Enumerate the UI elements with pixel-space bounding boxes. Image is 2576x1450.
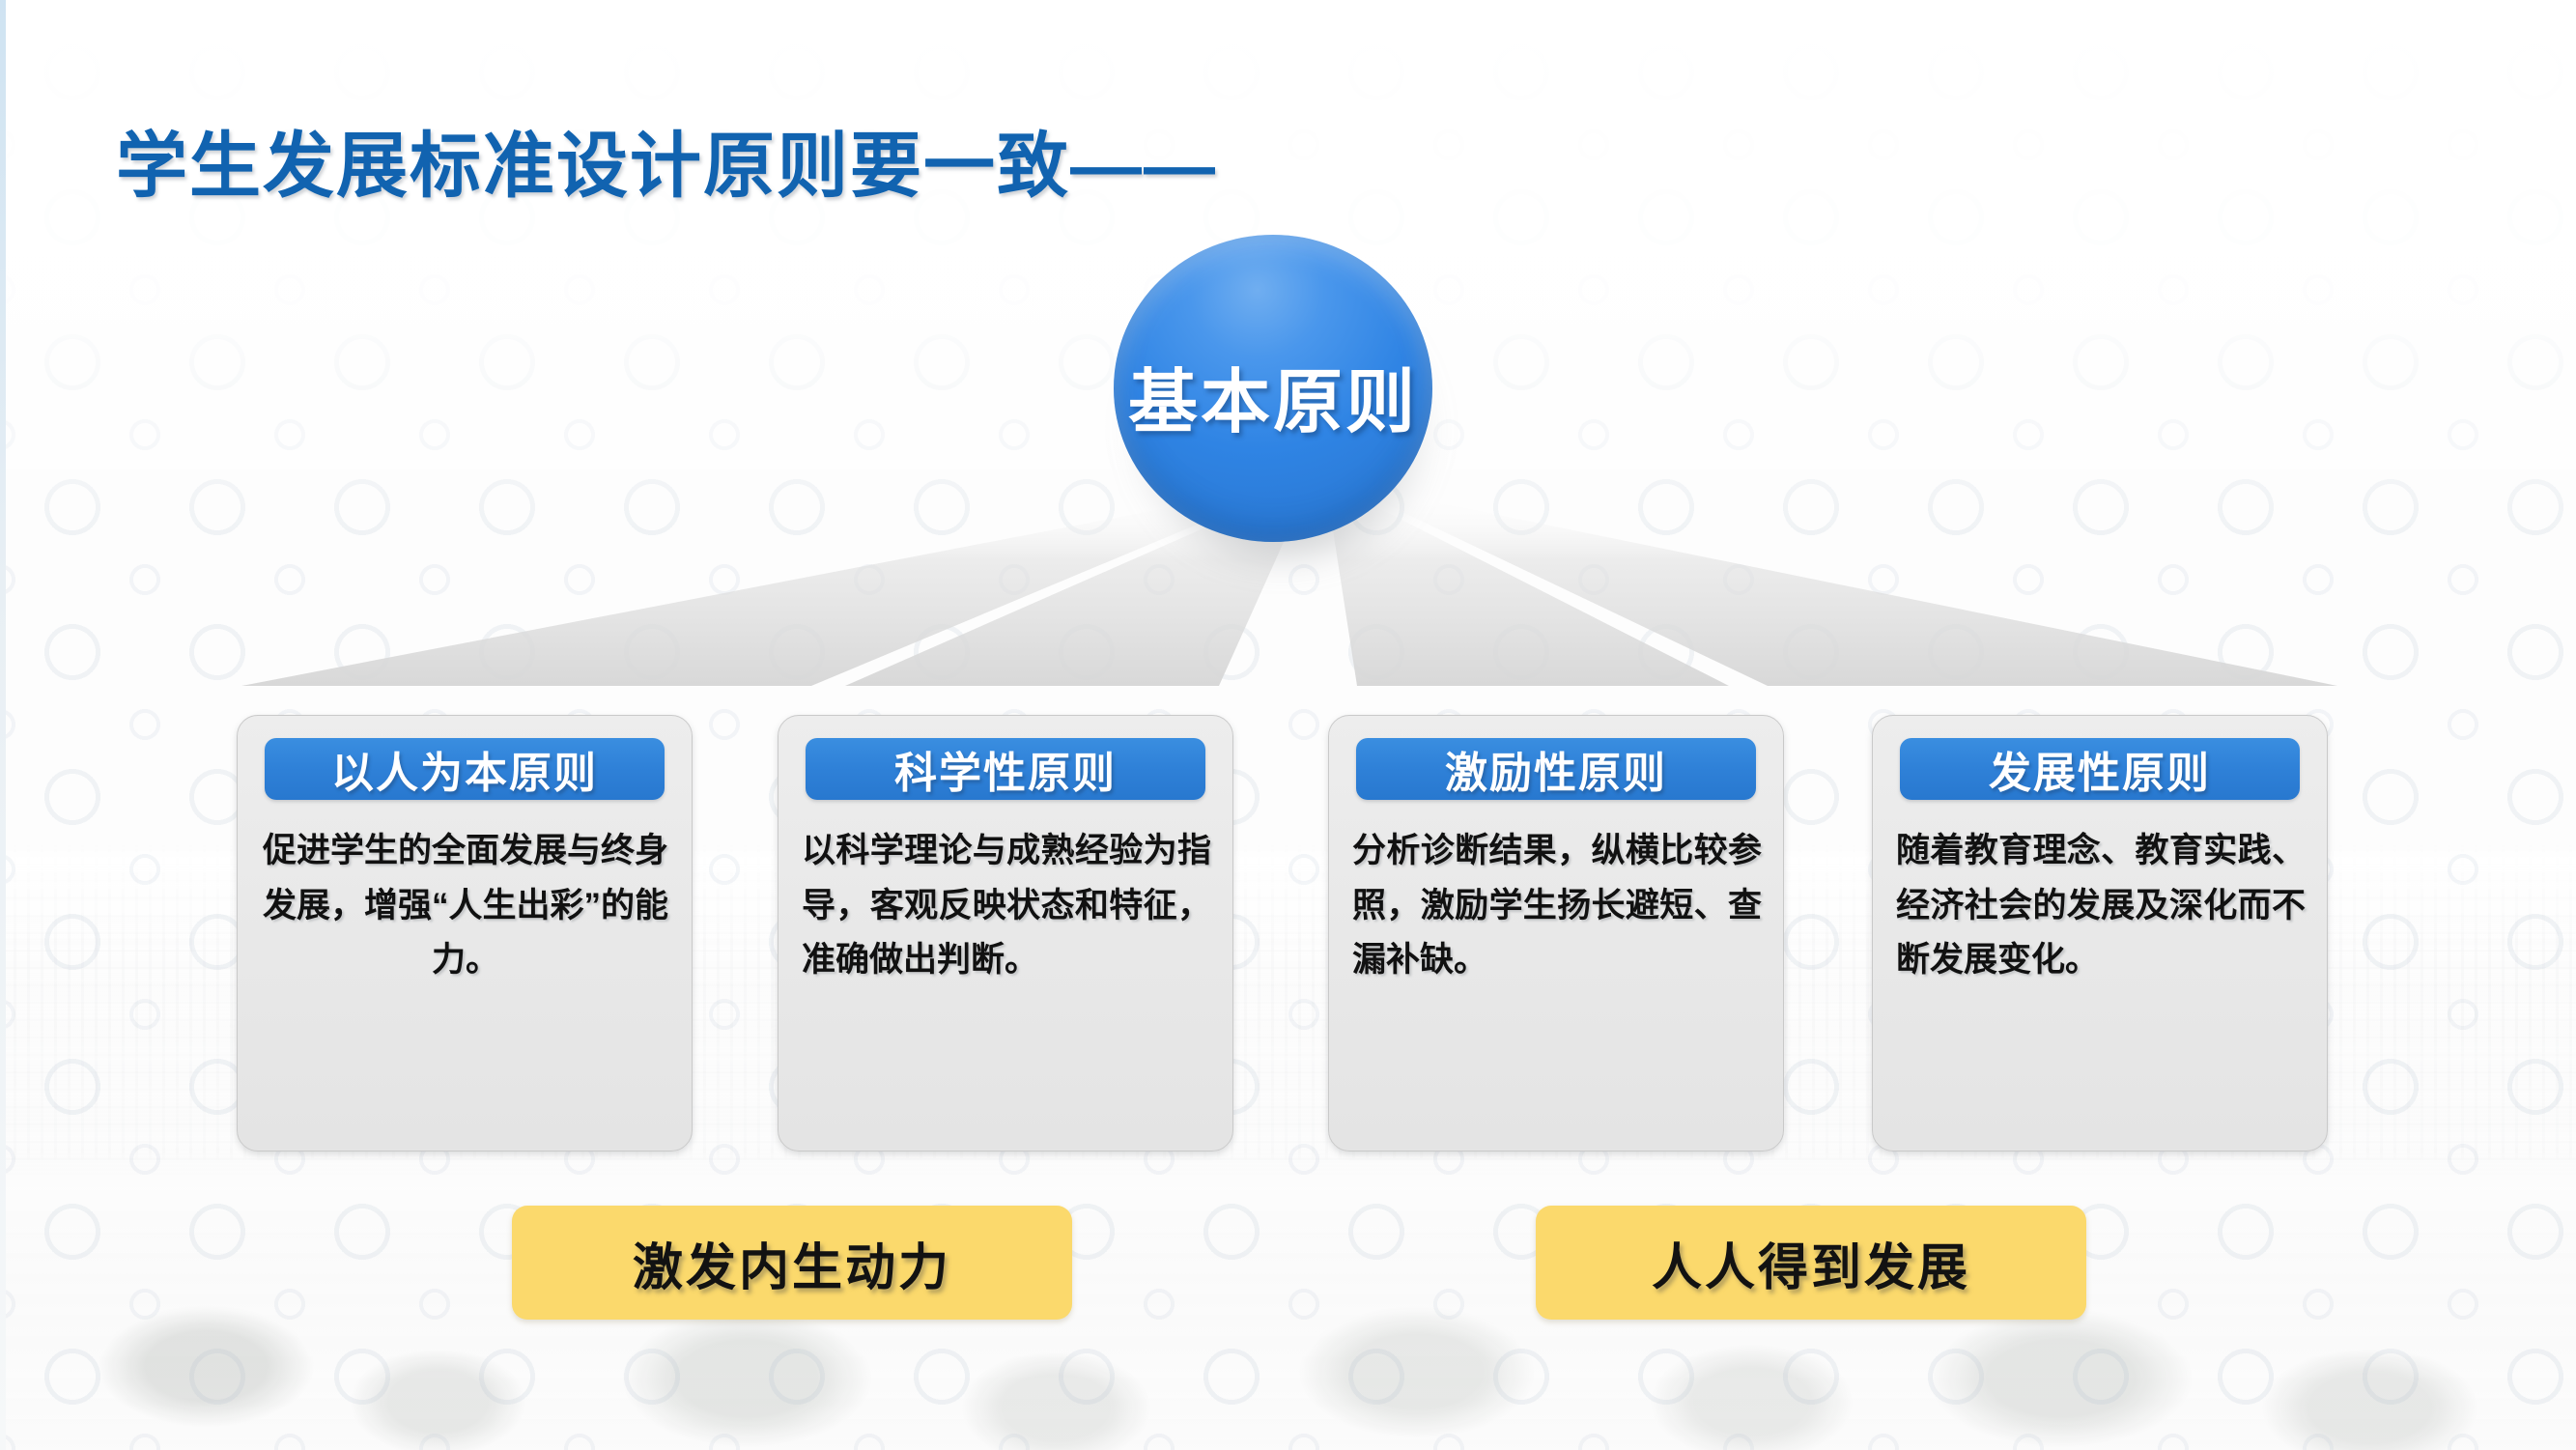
principle-card-1-title: 以人为本原则 <box>331 738 598 800</box>
principle-card-2[interactable]: 科学性原则 以科学理论与成熟经验为指导，客观反映状态和特征，准确做出判断。 <box>778 715 1233 1151</box>
principle-card-3-header: 激励性原则 <box>1356 738 1756 800</box>
principle-card-1-header: 以人为本原则 <box>265 738 665 800</box>
principle-card-2-title: 科学性原则 <box>894 738 1117 800</box>
principle-card-3-title: 激励性原则 <box>1445 738 1667 800</box>
principle-card-4-header: 发展性原则 <box>1900 738 2300 800</box>
principle-card-3-body: 分析诊断结果，纵横比较参照，激励学生扬长避短、查漏补缺。 <box>1352 824 1762 988</box>
principle-card-3[interactable]: 激励性原则 分析诊断结果，纵横比较参照，激励学生扬长避短、查漏补缺。 <box>1328 715 1784 1151</box>
slide-canvas: 学生发展标准设计原则要一致—— 基本原则 以人为本原则 促进学生的全面发展与终身… <box>0 0 2576 1450</box>
page-title: 学生发展标准设计原则要一致—— <box>116 108 1217 212</box>
principle-card-4[interactable]: 发展性原则 随着教育理念、教育实践、经济社会的发展及深化而不断发展变化。 <box>1872 715 2328 1151</box>
outcome-banner-2[interactable]: 人人得到发展 <box>1536 1206 2086 1320</box>
principle-card-1[interactable]: 以人为本原则 促进学生的全面发展与终身发展，增强“人生出彩”的能力。 <box>237 715 693 1151</box>
principle-card-2-header: 科学性原则 <box>806 738 1205 800</box>
principle-card-4-body: 随着教育理念、教育实践、经济社会的发展及深化而不断发展变化。 <box>1896 824 2306 988</box>
outcome-banner-1[interactable]: 激发内生动力 <box>512 1206 1072 1320</box>
sphere-shape: 基本原则 <box>1114 235 1432 542</box>
principle-card-1-body: 促进学生的全面发展与终身发展，增强“人生出彩”的能力。 <box>261 824 670 988</box>
center-node-label: 基本原则 <box>1128 345 1418 446</box>
center-node[interactable]: 基本原则 <box>1114 235 1447 554</box>
principle-card-2-body: 以科学理论与成熟经验为指导，客观反映状态和特征，准确做出判断。 <box>802 824 1211 988</box>
outcome-banner-2-label: 人人得到发展 <box>1652 1227 1970 1299</box>
principle-card-4-title: 发展性原则 <box>1989 738 2211 800</box>
outcome-banner-1-label: 激发内生动力 <box>633 1227 951 1299</box>
